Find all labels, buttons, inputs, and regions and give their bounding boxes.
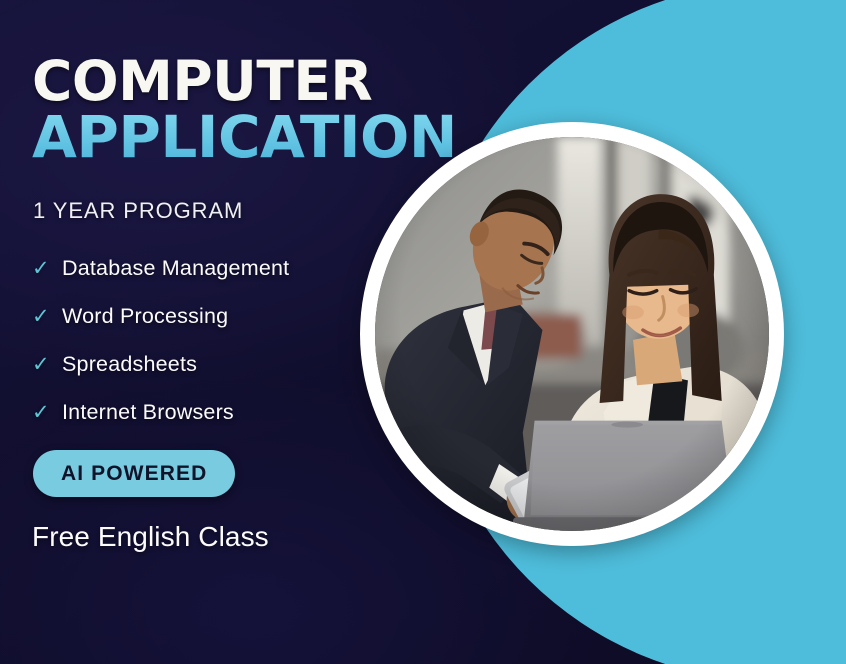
headline-line-primary: COMPUTER — [32, 56, 457, 108]
feature-label: Word Processing — [62, 304, 228, 329]
feature-label: Spreadsheets — [62, 352, 197, 377]
two-professionals-at-laptop-photo — [375, 137, 769, 531]
ai-powered-badge-label: AI POWERED — [61, 462, 207, 486]
promo-banner: COMPUTER APPLICATION 1 YEAR PROGRAM ✓ Da… — [0, 0, 846, 664]
check-icon: ✓ — [32, 306, 62, 327]
feature-list: ✓ Database Management ✓ Word Processing … — [32, 244, 289, 436]
photo-ring — [360, 122, 784, 546]
list-item: ✓ Word Processing — [32, 292, 289, 340]
check-icon: ✓ — [32, 402, 62, 423]
list-item: ✓ Spreadsheets — [32, 340, 289, 388]
photo-illustration — [375, 137, 769, 531]
program-duration-subheadline: 1 YEAR PROGRAM — [33, 198, 243, 224]
page-title: COMPUTER APPLICATION — [32, 56, 457, 164]
free-english-class-text: Free English Class — [32, 521, 269, 553]
list-item: ✓ Internet Browsers — [32, 388, 289, 436]
list-item: ✓ Database Management — [32, 244, 289, 292]
check-icon: ✓ — [32, 354, 62, 375]
feature-label: Database Management — [62, 256, 289, 281]
check-icon: ✓ — [32, 258, 62, 279]
ai-powered-badge[interactable]: AI POWERED — [33, 450, 235, 497]
headline-line-secondary: APPLICATION — [32, 110, 457, 165]
feature-label: Internet Browsers — [62, 400, 234, 425]
